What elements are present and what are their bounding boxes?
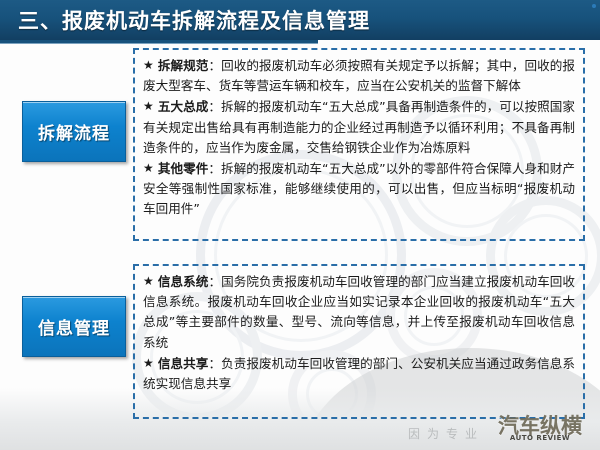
content-box-information-management: ★ 信息系统：国务院负责报废机动车回收管理的部门应当建立报废机动车回收信息系统。… (133, 264, 585, 419)
star-bullet-icon: ★ (143, 161, 154, 175)
corner-dot-icon (592, 4, 596, 8)
watermark-logo: 汽车纵横 AUTO REVIEW (486, 412, 594, 446)
content-paragraph: ★ 拆解规范：回收的报废机动车必须按照有关规定予以拆解；其中，回收的报废大型客车… (143, 55, 575, 96)
watermark-tagline: 因为专业 (408, 425, 484, 442)
paragraph-lead: 信息共享 (158, 356, 209, 371)
slide-title-bar: 三、报废机动车拆解流程及信息管理 (0, 0, 600, 40)
page-title: 三、报废机动车拆解流程及信息管理 (18, 5, 370, 35)
watermark-brand-en: AUTO REVIEW (510, 434, 570, 443)
section-label-information-management[interactable]: 信息管理 (22, 296, 126, 357)
content-paragraph: ★ 信息共享：负责报废机动车回收管理的部门、公安机关应当通过政务信息系统实现信息… (143, 353, 575, 394)
content-paragraph: ★ 五大总成：拆解的报废机动车“五大总成”具备再制造条件的，可以按照国家有关规定… (143, 96, 575, 158)
paragraph-separator: ： (208, 274, 221, 289)
section-label-text: 信息管理 (38, 314, 110, 339)
star-bullet-icon: ★ (143, 99, 154, 113)
star-bullet-icon: ★ (143, 58, 154, 72)
star-bullet-icon: ★ (143, 356, 154, 370)
section-label-text: 拆解流程 (38, 119, 110, 144)
paragraph-lead: 五大总成 (158, 99, 209, 114)
slide-canvas: 三、报废机动车拆解流程及信息管理 拆解流程 ★ 拆解规范：回收的报废机动车必须按… (0, 0, 600, 450)
paragraph-separator: ： (208, 58, 221, 73)
star-bullet-icon: ★ (143, 274, 154, 288)
title-underline-accent (0, 43, 318, 44)
paragraph-lead: 其他零件 (158, 161, 209, 176)
content-box-dismantling-process: ★ 拆解规范：回收的报废机动车必须按照有关规定予以拆解；其中，回收的报废大型客车… (133, 48, 585, 241)
paragraph-separator: ： (208, 99, 221, 114)
paragraph-separator: ： (208, 161, 221, 176)
content-paragraph: ★ 信息系统：国务院负责报废机动车回收管理的部门应当建立报废机动车回收信息系统。… (143, 271, 575, 353)
paragraph-separator: ： (208, 356, 221, 371)
section-label-dismantling-process[interactable]: 拆解流程 (22, 101, 126, 162)
paragraph-lead: 信息系统 (158, 274, 209, 289)
paragraph-lead: 拆解规范 (158, 58, 209, 73)
watermark-logo-inner: 汽车纵横 AUTO REVIEW (486, 412, 594, 446)
content-paragraph: ★ 其他零件：拆解的报废机动车“五大总成”以外的零部件符合保障人身和财产安全等强… (143, 158, 575, 220)
